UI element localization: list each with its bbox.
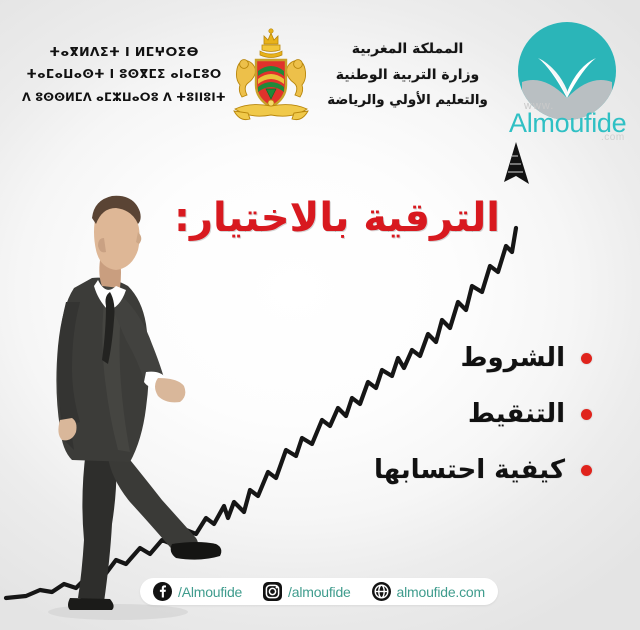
facebook-icon [153, 582, 172, 601]
arabic-ministry-text: المملكة المغربية وزارة التربية الوطنية و… [315, 36, 500, 114]
instagram-label: /almoufide [288, 584, 351, 600]
facebook-link[interactable]: /Almoufide [153, 582, 242, 601]
tifinagh-line-2: ⵜⴰⵎⴰⵡⴰⵙⵜ ⵏ ⵓⵙⴳⵎⵉ ⴰⵏⴰⵎⵓⵔ [18, 63, 230, 86]
list-item[interactable]: التنقيط [330, 386, 592, 442]
list-item[interactable]: الشروط [330, 330, 592, 386]
bullet-label: الشروط [461, 343, 565, 373]
bullet-label: كيفية احتسابها [374, 455, 565, 485]
facebook-label: /Almoufide [178, 584, 242, 600]
social-footer-bar: /Almoufide /almoufide almoufide.com [140, 578, 498, 605]
arabic-line-2: وزارة التربية الوطنية [315, 62, 500, 88]
arabic-line-1: المملكة المغربية [315, 36, 500, 62]
instagram-icon [263, 582, 282, 601]
globe-icon [372, 582, 391, 601]
page-title: الترقية بالاختيار: [178, 192, 500, 244]
chart-arrowhead [504, 142, 529, 184]
bullet-dot-icon [581, 353, 592, 364]
bullet-list: الشروط التنقيط كيفية احتسابها [330, 330, 592, 498]
arabic-line-3: والتعليم الأولي والرياضة [315, 88, 500, 114]
bullet-label: التنقيط [468, 399, 565, 429]
poster-canvas: ⵜⴰⴳⵍⴷⵉⵜ ⵏ ⵍⵎⵖⵔⵉⴱ ⵜⴰⵎⴰⵡⴰⵙⵜ ⵏ ⵓⵙⴳⵎⵉ ⴰⵏⴰⵎⵓⵔ… [0, 0, 640, 630]
tifinagh-line-1: ⵜⴰⴳⵍⴷⵉⵜ ⵏ ⵍⵎⵖⵔⵉⴱ [18, 40, 230, 63]
bullet-dot-icon [581, 465, 592, 476]
tifinagh-ministry-text: ⵜⴰⴳⵍⴷⵉⵜ ⵏ ⵍⵎⵖⵔⵉⴱ ⵜⴰⵎⴰⵡⴰⵙⵜ ⵏ ⵓⵙⴳⵎⵉ ⴰⵏⴰⵎⵓⵔ… [18, 40, 230, 109]
instagram-link[interactable]: /almoufide [263, 582, 351, 601]
website-link[interactable]: almoufide.com [372, 582, 485, 601]
website-label: almoufide.com [397, 584, 485, 600]
list-item[interactable]: كيفية احتسابها [330, 442, 592, 498]
moroccan-coat-of-arms-icon [230, 27, 312, 132]
bullet-dot-icon [581, 409, 592, 420]
tifinagh-line-3: ⴷ ⵓⵙⵙⵍⵎⴷ ⴰⵎⵣⵡⴰⵔⵓ ⴷ ⵜⵓⵏⵏⵓⵏⵜ [18, 86, 230, 109]
